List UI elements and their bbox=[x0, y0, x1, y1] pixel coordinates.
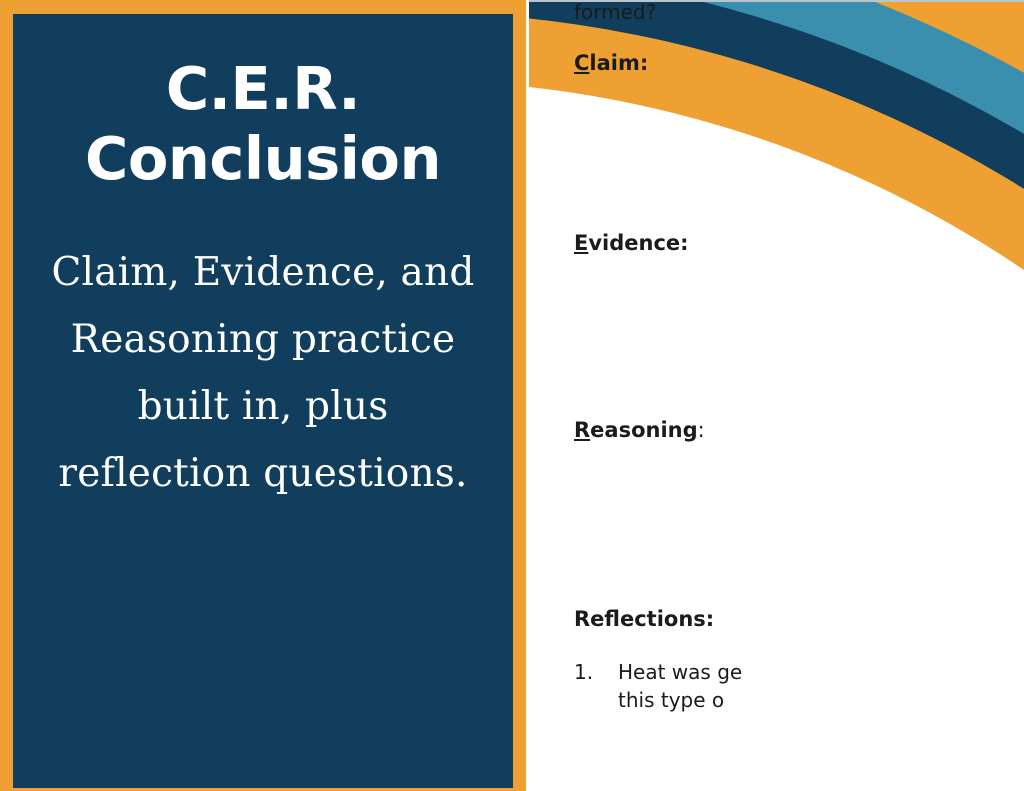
reflections-rest: eflections bbox=[590, 607, 706, 631]
reasoning-colon: : bbox=[698, 418, 705, 442]
title-card-orange-frame: C.E.R. Conclusion Claim, Evidence, and R… bbox=[0, 0, 526, 791]
evidence-first-letter: E bbox=[574, 231, 588, 255]
claim-first-letter: C bbox=[574, 51, 589, 75]
title-card-navy-body: C.E.R. Conclusion Claim, Evidence, and R… bbox=[13, 14, 513, 788]
reflection-item-number: 1. bbox=[574, 659, 618, 714]
worksheet-heading-reflections: Reflections: bbox=[574, 607, 714, 631]
claim-rest: laim bbox=[589, 51, 639, 75]
worksheet-heading-claim: Claim: bbox=[574, 51, 648, 75]
evidence-colon: : bbox=[680, 231, 688, 255]
reflection-item-line-2: this type o bbox=[618, 688, 724, 712]
reflection-item-line-1: Heat was ge bbox=[618, 660, 742, 684]
claim-colon: : bbox=[640, 51, 648, 75]
worksheet-panel: formed? Claim: Evidence: Reasoning: Refl… bbox=[526, 0, 1024, 791]
worksheet-heading-evidence: Evidence: bbox=[574, 231, 689, 255]
worksheet-heading-reasoning: Reasoning: bbox=[574, 418, 705, 442]
slide-canvas: formed? Claim: Evidence: Reasoning: Refl… bbox=[0, 0, 1024, 791]
reflection-list-item: 1. Heat was ge this type o bbox=[574, 659, 874, 714]
title-card-description: Claim, Evidence, and Reasoning practice … bbox=[39, 239, 487, 507]
worksheet-question-fragment: formed? bbox=[574, 0, 656, 24]
reflection-item-body: Heat was ge this type o bbox=[618, 659, 874, 714]
reasoning-rest: easoning bbox=[590, 418, 697, 442]
reasoning-first-letter: R bbox=[574, 418, 590, 442]
top-hairline-divider bbox=[526, 0, 1024, 2]
reflections-first-letter: R bbox=[574, 607, 590, 631]
worksheet-text-layer: formed? Claim: Evidence: Reasoning: Refl… bbox=[526, 0, 1024, 791]
page-title: C.E.R. Conclusion bbox=[39, 54, 487, 193]
reflections-colon: : bbox=[706, 607, 714, 631]
panel-gutter bbox=[526, 0, 529, 791]
evidence-rest: vidence bbox=[588, 231, 680, 255]
